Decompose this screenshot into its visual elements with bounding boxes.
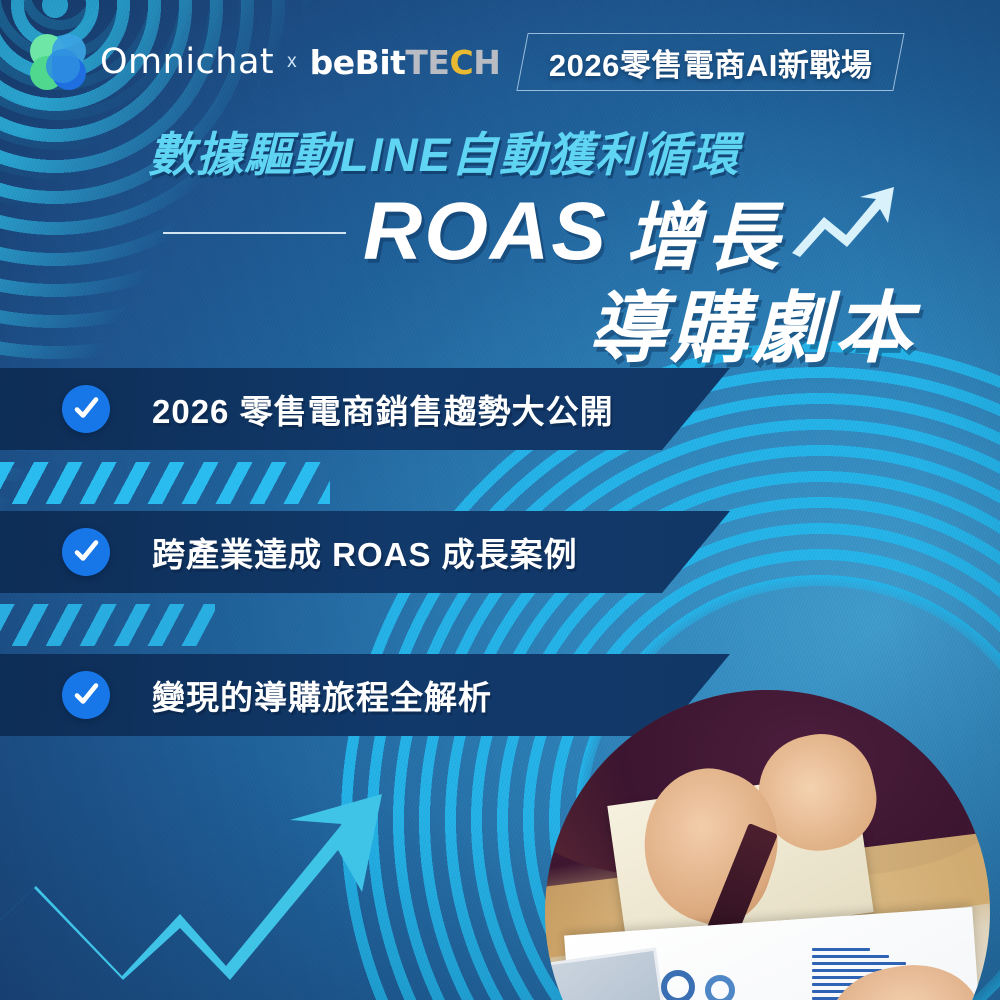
header-bar: Omnichat x beBitTECH 2026零售電商AI新戰場 — [0, 26, 1000, 98]
bebittech-h: H — [473, 43, 500, 82]
feature-bar-1: 2026 零售電商銷售趨勢大公開 — [0, 368, 730, 450]
bebittech-logo: beBitTECH — [310, 43, 501, 82]
hero-divider-rule — [163, 232, 346, 234]
feature-bar-2-label: 跨產業達成 ROAS 成長案例 — [152, 528, 578, 576]
photo-donut-chart-1 — [661, 970, 695, 1000]
hero-title-roas: ROAS — [363, 185, 608, 279]
bebittech-c: C — [449, 43, 473, 82]
feature-bar-2: 跨產業達成 ROAS 成長案例 — [0, 511, 730, 593]
growth-arrow-icon — [0, 780, 410, 985]
check-circle-icon — [62, 528, 110, 576]
hero-subheadline: 數據驅動LINE自動獲利循環 — [148, 116, 908, 185]
omnichat-logo-icon — [30, 34, 86, 90]
check-circle-icon — [62, 671, 110, 719]
promo-banner: Omnichat x beBitTECH 2026零售電商AI新戰場 數據驅動L… — [0, 0, 1000, 1000]
bebittech-te: TE — [405, 43, 449, 82]
hatch-stripes-lower — [0, 604, 215, 646]
event-badge-label: 2026零售電商AI新戰場 — [549, 40, 872, 85]
business-meeting-photo — [545, 690, 990, 1000]
hatch-stripes-upper — [0, 462, 330, 504]
feature-bar-1-label: 2026 零售電商銷售趨勢大公開 — [152, 385, 614, 433]
omnichat-brand-name: Omnichat — [100, 42, 274, 82]
check-circle-icon — [62, 385, 110, 433]
logo-center-circle — [46, 49, 80, 83]
photo-donut-chart-2 — [705, 975, 735, 1000]
brand-separator: x — [287, 51, 297, 73]
event-badge: 2026零售電商AI新戰場 — [517, 33, 906, 91]
trending-up-icon — [790, 183, 898, 262]
feature-bar-3-label: 變現的導購旅程全解析 — [152, 671, 492, 719]
hero-title-line-2: 導購劇本 — [588, 266, 916, 378]
bebittech-bebit: beBit — [310, 43, 406, 82]
